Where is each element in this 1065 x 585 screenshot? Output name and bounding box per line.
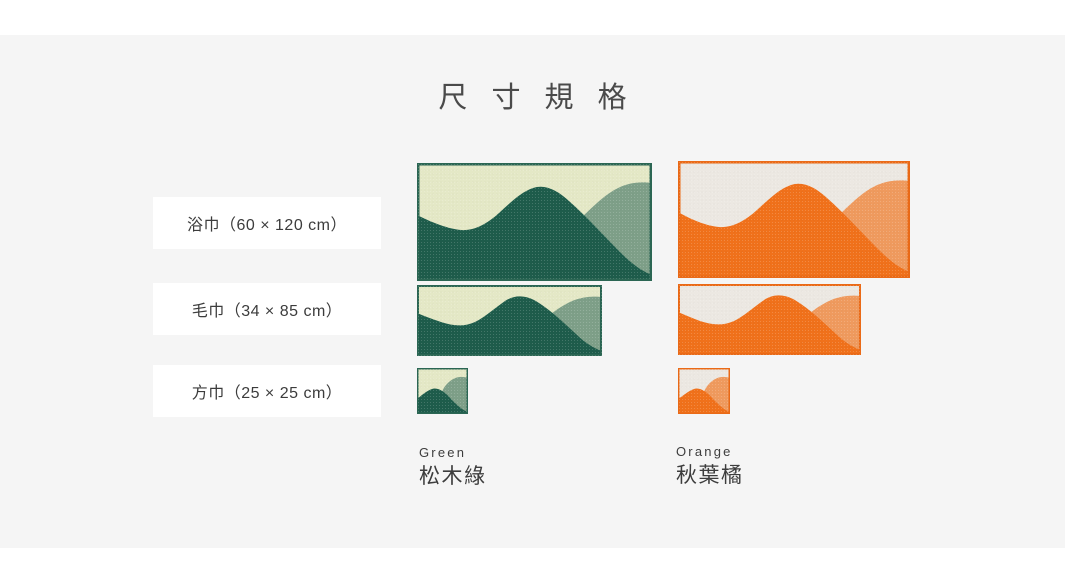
towel-image-green-wash [417, 368, 468, 414]
towel-image-orange-bath [678, 161, 910, 278]
size-label-text: 方巾（25 × 25 cm） [192, 379, 343, 403]
towel-image-orange-hand [678, 284, 861, 355]
colorway-caption-green: Green 松木綠 [419, 444, 487, 491]
colorway-name-zh: 秋葉橘 [676, 462, 744, 490]
mountain-landscape-icon [678, 284, 861, 355]
product-spec-page: 尺 寸 規 格 浴巾（60 × 120 cm） 毛巾（34 × 85 cm） 方… [0, 0, 1065, 585]
mountain-landscape-icon [417, 163, 652, 281]
mountain-landscape-icon [417, 285, 602, 356]
mountain-landscape-icon [678, 161, 910, 278]
towel-image-orange-wash [678, 368, 730, 414]
mountain-landscape-icon [678, 368, 730, 414]
size-label-text: 浴巾（60 × 120 cm） [187, 211, 347, 235]
size-label-text: 毛巾（34 × 85 cm） [192, 297, 343, 321]
colorway-name-zh: 松木綠 [419, 463, 487, 491]
towel-image-green-bath [417, 163, 652, 281]
size-label-bath-towel: 浴巾（60 × 120 cm） [153, 197, 381, 249]
colorway-caption-orange: Orange 秋葉橘 [676, 443, 744, 490]
page-title: 尺 寸 規 格 [0, 74, 1065, 116]
mountain-landscape-icon [417, 368, 468, 414]
size-label-hand-towel: 毛巾（34 × 85 cm） [153, 283, 381, 335]
size-label-wash-towel: 方巾（25 × 25 cm） [153, 365, 381, 417]
colorway-name-en: Green [419, 444, 487, 462]
towel-image-green-hand [417, 285, 602, 356]
colorway-name-en: Orange [676, 443, 744, 461]
